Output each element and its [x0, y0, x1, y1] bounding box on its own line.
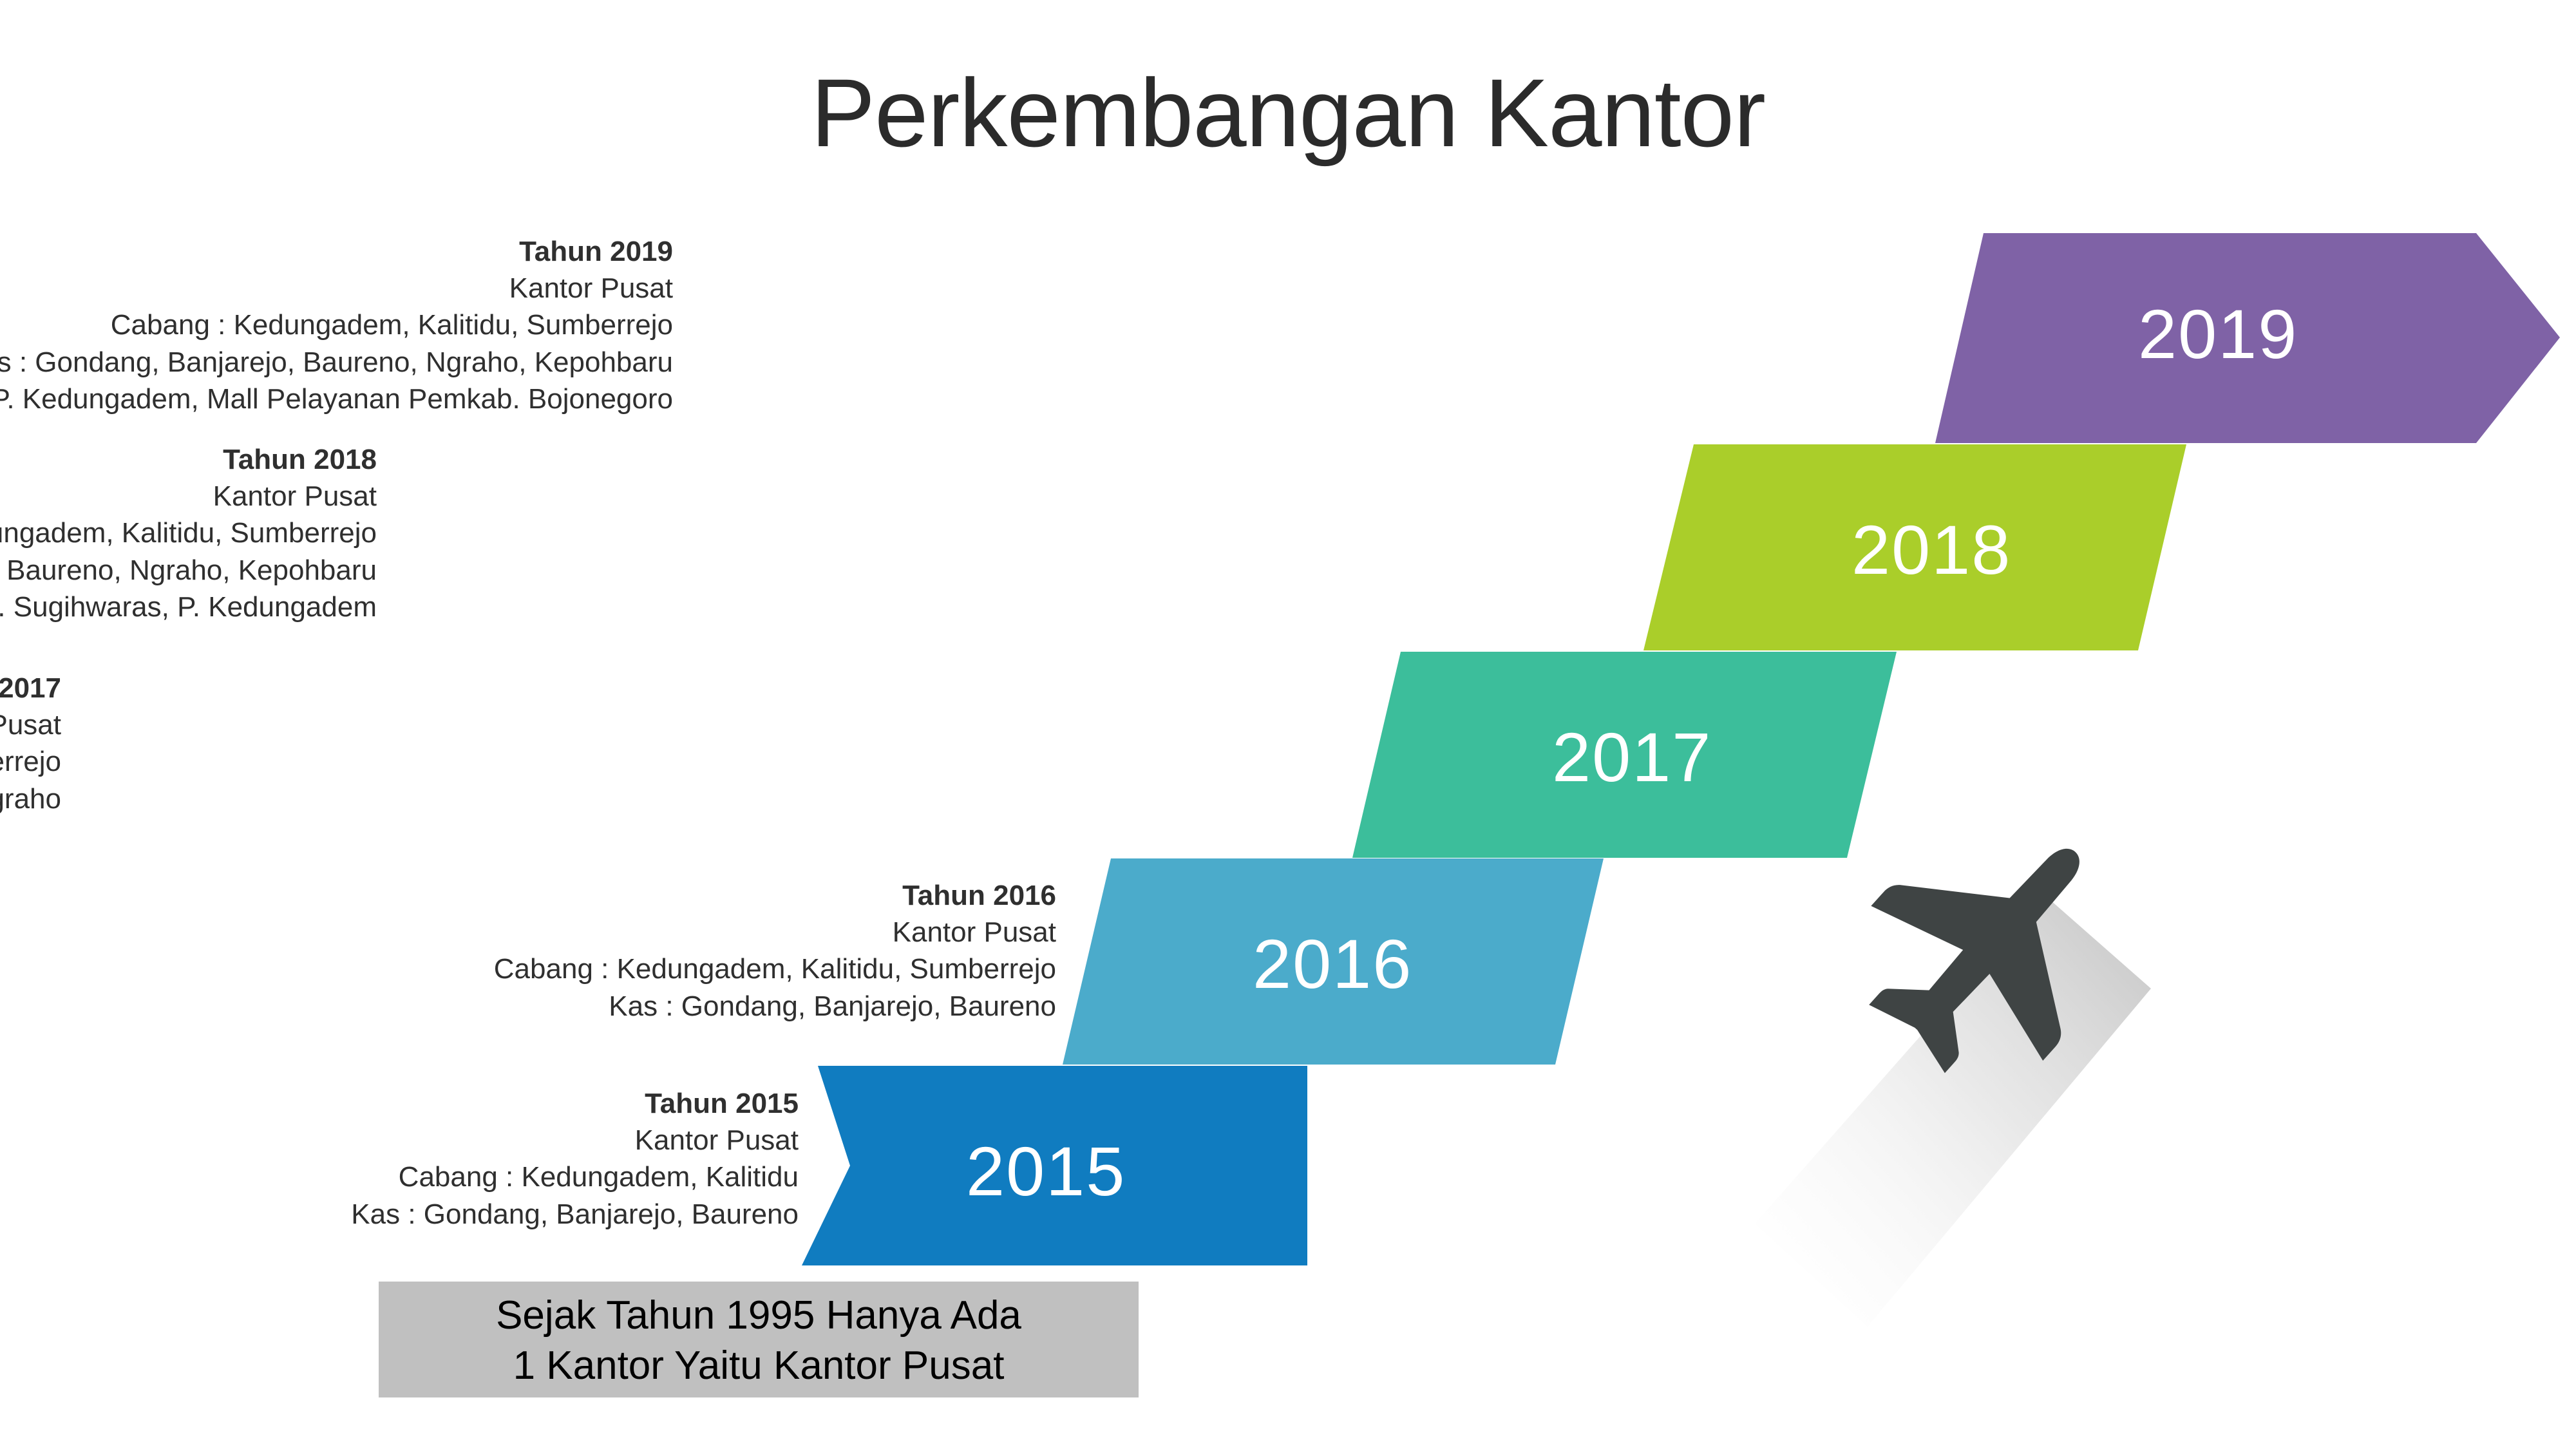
description-line: Kantor Pusat [351, 1122, 799, 1159]
year-label-2018: 2018 [1851, 515, 2011, 585]
description-line: Kantor Pusat [0, 478, 377, 515]
caption-box: Sejak Tahun 1995 Hanya Ada 1 Kantor Yait… [379, 1282, 1139, 1397]
description-heading: Tahun 2016 [494, 877, 1056, 914]
description-2018: Tahun 2018 Kantor Pusat Cabang : Kedunga… [0, 441, 377, 625]
description-line: Kas : Gondang, Banjarejo, Baureno [494, 988, 1056, 1025]
slide-canvas: Perkembangan Kantor 2019 2018 2017 201 [0, 0, 2576, 1449]
description-heading: Tahun 2017 [0, 670, 61, 706]
description-line: Payment Point : P. Malo, P. Kalitidu, P.… [0, 381, 673, 417]
description-line: Kas : Gondang, Banjarejo, Baureno [351, 1196, 799, 1233]
description-line: Kas : Gondang, Banjarejo, Baureno, Ngrah… [0, 552, 377, 589]
description-line: Cabang : Kedungadem, Kalitidu [351, 1159, 799, 1195]
caption-line-1: Sejak Tahun 1995 Hanya Ada [395, 1291, 1122, 1341]
description-heading: Tahun 2019 [0, 233, 673, 270]
description-line: Kantor Pusat [0, 706, 61, 743]
description-line: Cabang : Kedungadem, Kalitidu, Sumberrej… [0, 307, 673, 343]
description-line: Cabang : Kedungadem, Kalitidu, Sumberrej… [0, 743, 61, 780]
description-line: Cabang : Kedungadem, Kalitidu, Sumberrej… [494, 951, 1056, 987]
year-label-2015: 2015 [966, 1137, 1126, 1206]
year-label-2016: 2016 [1253, 929, 1412, 999]
description-line: Kas : Gondang, Banjarejo, Baureno, Ngrah… [0, 781, 61, 817]
plane-trail [1755, 895, 2151, 1327]
description-line: Kantor Pusat [0, 270, 673, 307]
description-line: Kas : Gondang, Banjarejo, Baureno, Ngrah… [0, 344, 673, 381]
description-heading: Tahun 2015 [351, 1085, 799, 1122]
description-line: Payment Point : P. Malo, P. Kalitidu, P.… [0, 589, 377, 625]
description-heading: Tahun 2018 [0, 441, 377, 478]
year-label-2017: 2017 [1552, 723, 1712, 792]
description-line: Cabang : Kedungadem, Kalitidu, Sumberrej… [0, 515, 377, 551]
description-2019: Tahun 2019 Kantor Pusat Cabang : Kedunga… [0, 233, 673, 417]
caption-line-2: 1 Kantor Yaitu Kantor Pusat [395, 1341, 1122, 1391]
description-line: Kantor Pusat [494, 914, 1056, 951]
description-2017: Tahun 2017 Kantor Pusat Cabang : Kedunga… [0, 670, 61, 817]
year-label-2019: 2019 [2138, 299, 2298, 369]
description-2015: Tahun 2015 Kantor Pusat Cabang : Kedunga… [351, 1085, 799, 1233]
description-2016: Tahun 2016 Kantor Pusat Cabang : Kedunga… [494, 877, 1056, 1025]
